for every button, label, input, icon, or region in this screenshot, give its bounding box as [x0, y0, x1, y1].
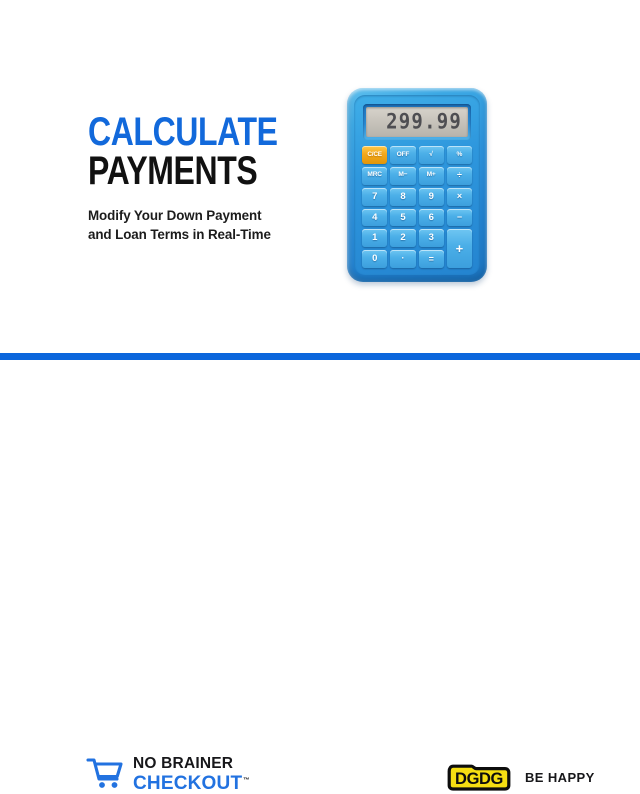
calc-key-0[interactable]: 0	[362, 250, 387, 268]
footer: NO BRAINER CHECKOUT™ DGDG BE HAPPY	[0, 360, 640, 480]
calc-key-1[interactable]: 1	[362, 229, 387, 247]
no-brainer-checkout-wordmark: NO BRAINER CHECKOUT™	[133, 756, 250, 793]
hero-section: CALCULATE PAYMENTS Modify Your Down Paym…	[0, 0, 640, 352]
calc-key-memory-recall-clear[interactable]: MRC	[362, 167, 387, 185]
calc-key-6[interactable]: 6	[419, 209, 444, 227]
calc-key-plus[interactable]: +	[447, 229, 472, 268]
calc-key-off[interactable]: OFF	[390, 146, 415, 164]
calc-key-memory-plus[interactable]: M+	[419, 167, 444, 185]
calc-key-clear-entry[interactable]: C/CE	[362, 146, 387, 164]
calc-key-5[interactable]: 5	[390, 209, 415, 227]
shopping-cart-icon	[86, 757, 124, 791]
nbc-line-checkout-wrap: CHECKOUT™	[133, 774, 250, 793]
calc-key-divide[interactable]: ÷	[447, 167, 472, 185]
calc-key-equals[interactable]: =	[419, 250, 444, 268]
calc-key-percent[interactable]: %	[447, 146, 472, 164]
dgdg-badge-label: DGDG	[446, 763, 512, 792]
calc-key-2[interactable]: 2	[390, 229, 415, 247]
calc-key-3[interactable]: 3	[419, 229, 444, 247]
calc-key-memory-minus[interactable]: M−	[390, 167, 415, 185]
subheadline-line1: Modify Your Down Payment	[88, 206, 318, 225]
nbc-line-checkout: CHECKOUT	[133, 773, 242, 794]
calc-key-7[interactable]: 7	[362, 188, 387, 206]
dgdg-badge: DGDG	[446, 763, 512, 792]
calculator-display-frame: 299.99	[363, 104, 471, 140]
calculator-keypad: C/CEOFF√%MRCM−M+÷789×456−123+0·=	[362, 146, 472, 268]
calculator-illustration: 299.99 C/CEOFF√%MRCM−M+÷789×456−123+0·=	[347, 88, 487, 284]
section-divider	[0, 353, 640, 360]
calc-key-decimal-point[interactable]: ·	[390, 250, 415, 268]
calculator-faceplate: 299.99 C/CEOFF√%MRCM−M+÷789×456−123+0·=	[354, 95, 480, 275]
no-brainer-checkout-logo[interactable]: NO BRAINER CHECKOUT™	[86, 756, 250, 793]
calc-key-multiply[interactable]: ×	[447, 188, 472, 206]
subheadline: Modify Your Down Payment and Loan Terms …	[88, 206, 318, 244]
calc-key-8[interactable]: 8	[390, 188, 415, 206]
headline-block: CALCULATE PAYMENTS	[88, 114, 328, 190]
page-title-line2: PAYMENTS	[88, 153, 280, 190]
calc-key-minus[interactable]: −	[447, 209, 472, 227]
dgdg-tagline: BE HAPPY	[525, 770, 595, 785]
calc-key-square-root[interactable]: √	[419, 146, 444, 164]
subheadline-line2: and Loan Terms in Real-Time	[88, 225, 318, 244]
dgdg-logo[interactable]: DGDG BE HAPPY	[446, 763, 595, 792]
trademark-symbol: ™	[243, 777, 250, 784]
calculator-display-value: 299.99	[386, 111, 462, 132]
nbc-line-no-brainer: NO BRAINER	[133, 756, 250, 772]
calc-key-9[interactable]: 9	[419, 188, 444, 206]
page-title-line1: CALCULATE	[88, 114, 280, 151]
calculator-display: 299.99	[366, 107, 468, 137]
calculator-body: 299.99 C/CEOFF√%MRCM−M+÷789×456−123+0·=	[347, 88, 487, 282]
calc-key-4[interactable]: 4	[362, 209, 387, 227]
